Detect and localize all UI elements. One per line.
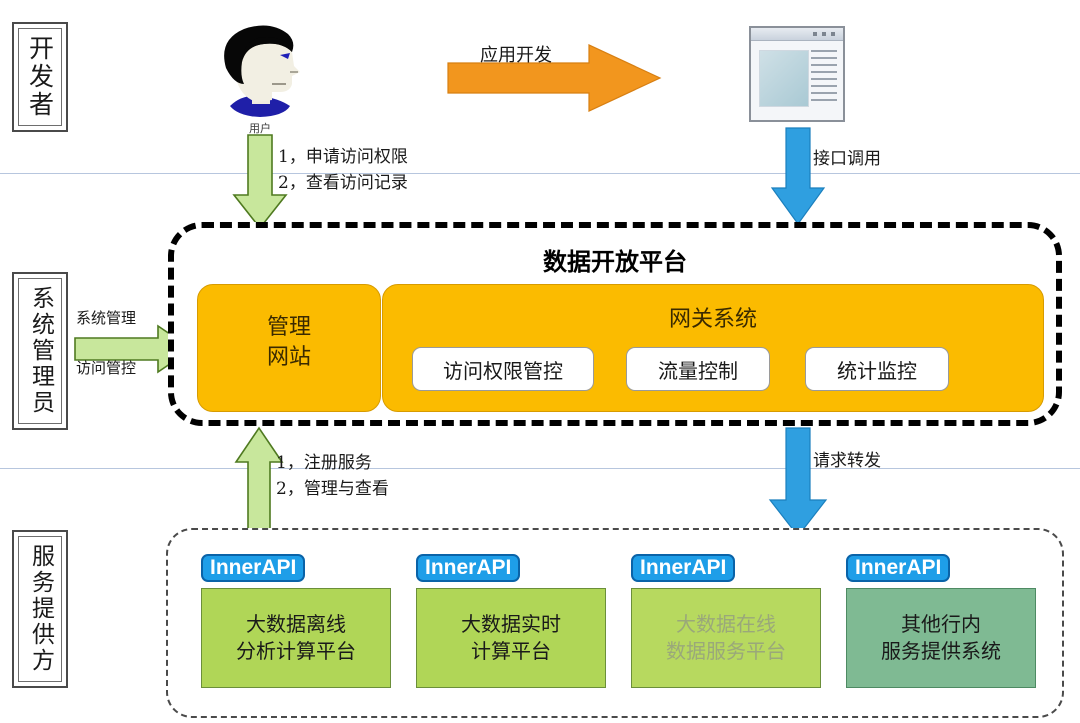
label-developer-step-2: 2，查看访问记录: [278, 172, 408, 195]
window-title-bar: [751, 28, 843, 41]
arrow-api-call: [772, 128, 824, 224]
service-box-2-line2: 计算平台: [471, 639, 551, 663]
lane-label-developer-text: 开发者: [28, 35, 53, 119]
panel-gateway-title: 网关系统: [383, 301, 1043, 333]
label-provider-step-1: 1，注册服务: [276, 452, 372, 475]
service-box-3-label: 大数据在线 数据服务平台: [666, 611, 786, 665]
lane-label-sysadmin-text: 系统管理员: [29, 286, 52, 416]
service-box-4-label: 其他行内 服务提供系统: [881, 611, 1001, 665]
window-body: [751, 41, 843, 120]
service-box-2[interactable]: 大数据实时 计算平台: [416, 588, 606, 688]
service-box-1-label: 大数据离线 分析计算平台: [236, 611, 356, 665]
service-box-4-line2: 服务提供系统: [881, 639, 1001, 663]
arrow-request-forward: [770, 428, 826, 536]
service-providers-container: InnerAPI 大数据离线 分析计算平台 InnerAPI 大数据实时 计算平…: [166, 528, 1064, 718]
label-api-call: 接口调用: [813, 148, 881, 171]
panel-gateway-system[interactable]: 网关系统 访问权限管控 流量控制 统计监控: [382, 284, 1044, 412]
gateway-module-statistics-monitoring[interactable]: 统计监控: [805, 347, 949, 391]
lane-label-developer: 开发者: [12, 22, 68, 132]
lane-label-provider-inner: 服务提供方: [18, 536, 62, 682]
data-open-platform-container: 数据开放平台 管理 网站 网关系统 访问权限管控 流量控制 统计监控: [168, 222, 1062, 426]
service-box-1[interactable]: 大数据离线 分析计算平台: [201, 588, 391, 688]
panel-admin-site-title-line1: 管理: [198, 313, 380, 343]
label-access-control: 访问管控: [76, 357, 136, 378]
lane-separator-top: [0, 173, 1080, 174]
window-text-lines: [811, 50, 837, 106]
application-window-icon: [749, 26, 845, 122]
panel-admin-site-title: 管理 网站: [198, 313, 380, 372]
window-dot-icon: [813, 32, 817, 36]
lane-label-provider: 服务提供方: [12, 530, 68, 688]
service-box-4-line1: 其他行内: [901, 612, 981, 636]
service-box-3[interactable]: 大数据在线 数据服务平台: [631, 588, 821, 688]
user-avatar: 用户: [212, 22, 308, 137]
api-tag-service-1[interactable]: InnerAPI: [201, 554, 305, 582]
api-tag-service-3[interactable]: InnerAPI: [631, 554, 735, 582]
user-avatar-label: 用户: [212, 120, 308, 136]
panel-admin-site-title-line2: 网站: [198, 343, 380, 373]
api-tag-service-2[interactable]: InnerAPI: [416, 554, 520, 582]
label-provider-step-2: 2，管理与查看: [276, 478, 389, 501]
window-image-placeholder: [759, 50, 809, 107]
window-dot-icon: [822, 32, 826, 36]
service-box-3-line1: 大数据在线: [676, 612, 776, 636]
service-box-1-line2: 分析计算平台: [236, 639, 356, 663]
label-developer-step-1: 1，申请访问权限: [278, 146, 408, 169]
person-head-icon: [212, 22, 308, 122]
service-box-4[interactable]: 其他行内 服务提供系统: [846, 588, 1036, 688]
page-title: 数据开放平台: [174, 242, 1056, 277]
api-tag-service-4[interactable]: InnerAPI: [846, 554, 950, 582]
label-app-development: 应用开发: [480, 44, 552, 68]
lane-label-sysadmin: 系统管理员: [12, 272, 68, 430]
lane-label-sysadmin-inner: 系统管理员: [18, 278, 62, 424]
lane-label-developer-inner: 开发者: [18, 28, 62, 126]
diagram-canvas: 开发者 系统管理员 服务提供方 用户: [0, 0, 1080, 723]
lane-label-provider-text: 服务提供方: [29, 544, 52, 674]
label-request-forward: 请求转发: [813, 450, 881, 473]
panel-admin-site[interactable]: 管理 网站: [197, 284, 381, 412]
service-box-2-line1: 大数据实时: [461, 612, 561, 636]
service-box-3-line2: 数据服务平台: [666, 639, 786, 663]
service-box-1-line1: 大数据离线: [246, 612, 346, 636]
gateway-module-access-permission[interactable]: 访问权限管控: [412, 347, 594, 391]
lane-separator-bottom: [0, 468, 1080, 469]
service-box-2-label: 大数据实时 计算平台: [461, 611, 561, 665]
window-dot-icon: [831, 32, 835, 36]
gateway-module-traffic-control[interactable]: 流量控制: [626, 347, 770, 391]
label-system-management: 系统管理: [76, 307, 136, 328]
